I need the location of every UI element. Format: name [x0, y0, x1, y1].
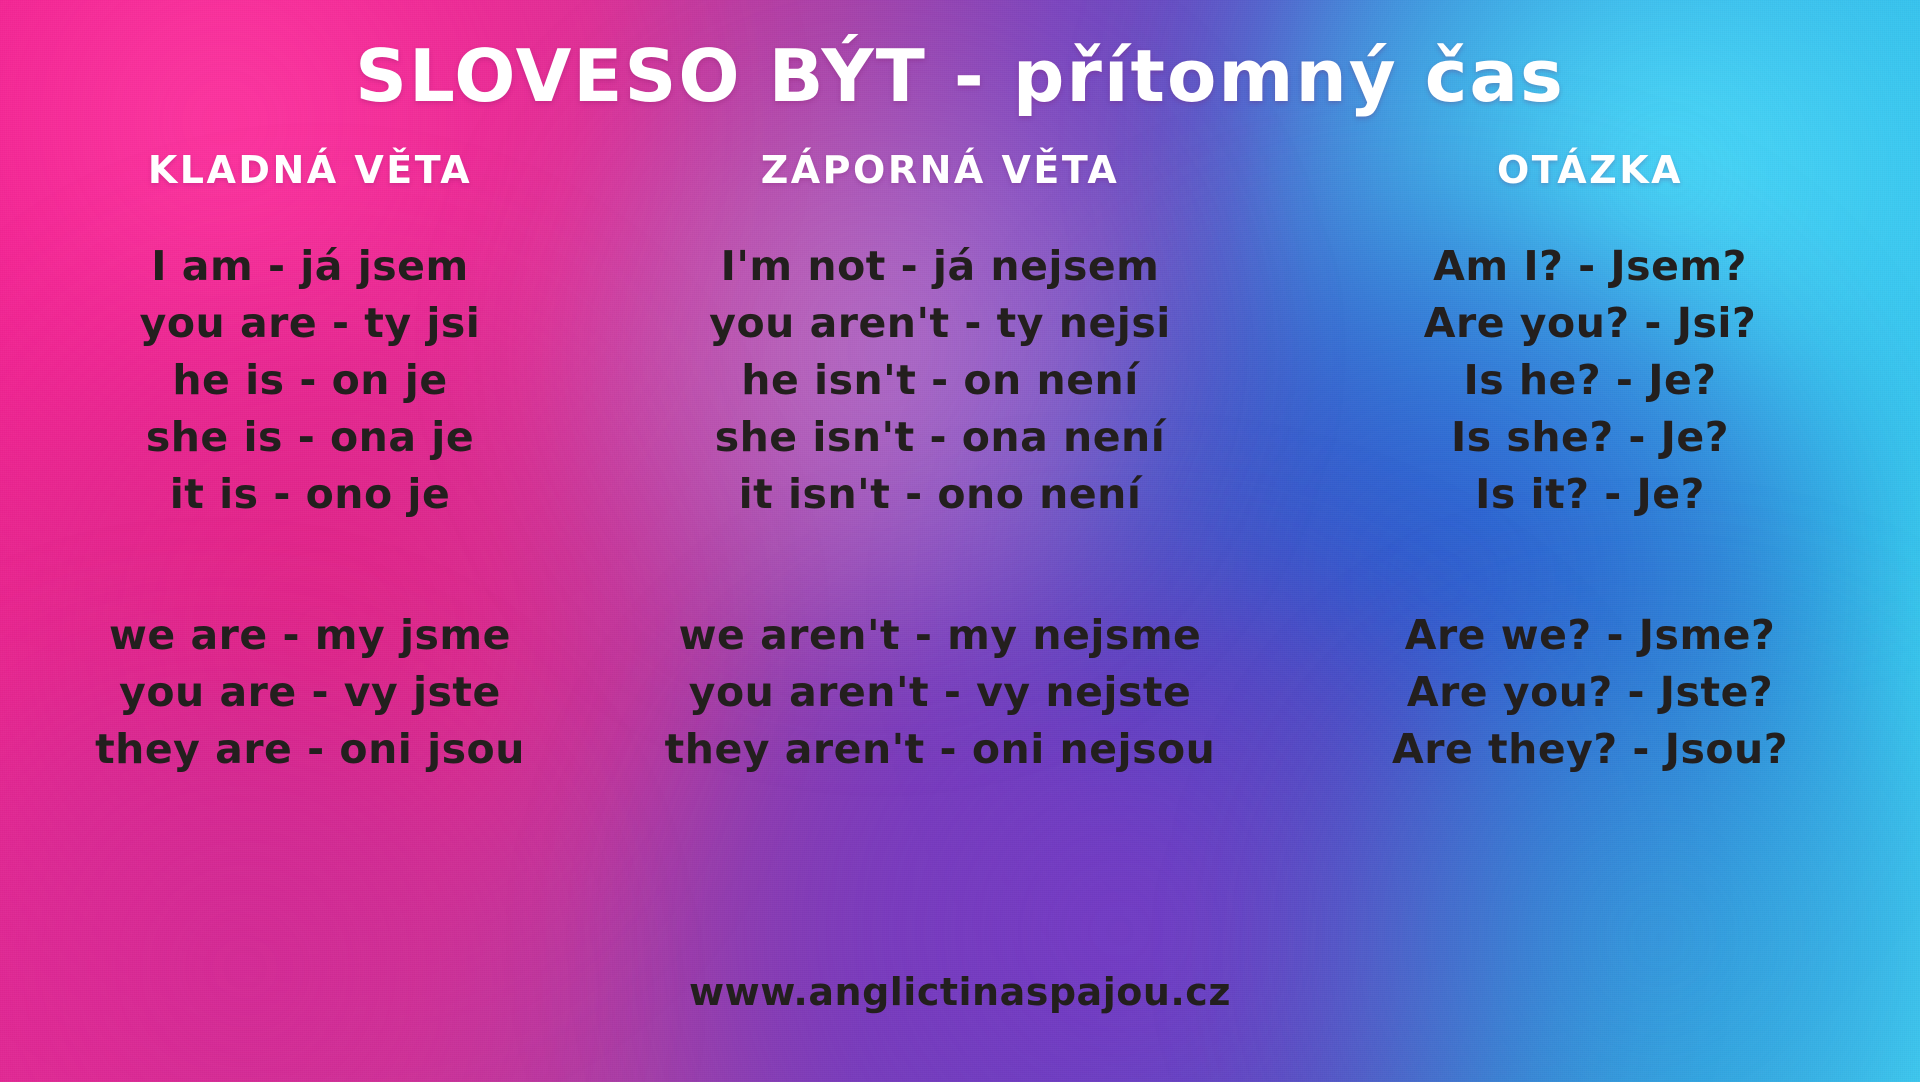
table-row: it isn't - ono není: [739, 466, 1142, 523]
table-row: I'm not - já nejsem: [721, 238, 1160, 295]
column-negative: I'm not - já nejsem you aren't - ty nejs…: [620, 238, 1260, 778]
table-row: you are - vy jste: [119, 664, 501, 721]
negative-plural-group: we aren't - my nejsme you aren't - vy ne…: [665, 607, 1216, 778]
table-row: he is - on je: [172, 352, 447, 409]
question-plural-group: Are we? - Jsme? Are you? - Jste? Are the…: [1392, 607, 1788, 778]
column-header-affirmative: KLADNÁ VĚTA: [0, 148, 620, 192]
table-row: you aren't - ty nejsi: [709, 295, 1171, 352]
affirmative-plural-group: we are - my jsme you are - vy jste they …: [95, 607, 525, 778]
affirmative-singular-group: I am - já jsem you are - ty jsi he is - …: [140, 238, 481, 523]
table-row: Is he? - Je?: [1463, 352, 1716, 409]
table-row: Is she? - Je?: [1451, 409, 1729, 466]
table-row: Are you? - Jste?: [1407, 664, 1773, 721]
table-row: she is - ona je: [146, 409, 474, 466]
table-row: we aren't - my nejsme: [679, 607, 1202, 664]
conjugation-table: I am - já jsem you are - ty jsi he is - …: [0, 238, 1920, 778]
table-row: I am - já jsem: [151, 238, 468, 295]
page-title: SLOVESO BÝT - přítomný čas: [0, 34, 1920, 118]
table-row: Are we? - Jsme?: [1405, 607, 1776, 664]
question-singular-group: Am I? - Jsem? Are you? - Jsi? Is he? - J…: [1424, 238, 1756, 523]
website-url: www.anglictinaspajou.cz: [0, 970, 1920, 1014]
table-row: you aren't - vy nejste: [689, 664, 1192, 721]
table-row: Am I? - Jsem?: [1433, 238, 1747, 295]
table-row: he isn't - on není: [741, 352, 1139, 409]
column-header-row: KLADNÁ VĚTA ZÁPORNÁ VĚTA OTÁZKA: [0, 148, 1920, 192]
table-row: we are - my jsme: [109, 607, 511, 664]
table-row: you are - ty jsi: [140, 295, 481, 352]
column-question: Am I? - Jsem? Are you? - Jsi? Is he? - J…: [1260, 238, 1920, 778]
table-row: she isn't - ona není: [715, 409, 1166, 466]
table-row: Are you? - Jsi?: [1424, 295, 1756, 352]
column-header-question: OTÁZKA: [1260, 148, 1920, 192]
poster-canvas: SLOVESO BÝT - přítomný čas KLADNÁ VĚTA Z…: [0, 0, 1920, 1082]
table-row: they aren't - oni nejsou: [665, 721, 1216, 778]
table-row: Are they? - Jsou?: [1392, 721, 1788, 778]
column-header-negative: ZÁPORNÁ VĚTA: [620, 148, 1260, 192]
column-affirmative: I am - já jsem you are - ty jsi he is - …: [0, 238, 620, 778]
poster-content: SLOVESO BÝT - přítomný čas KLADNÁ VĚTA Z…: [0, 0, 1920, 1082]
table-row: they are - oni jsou: [95, 721, 525, 778]
negative-singular-group: I'm not - já nejsem you aren't - ty nejs…: [709, 238, 1171, 523]
table-row: it is - ono je: [170, 466, 451, 523]
table-row: Is it? - Je?: [1475, 466, 1705, 523]
